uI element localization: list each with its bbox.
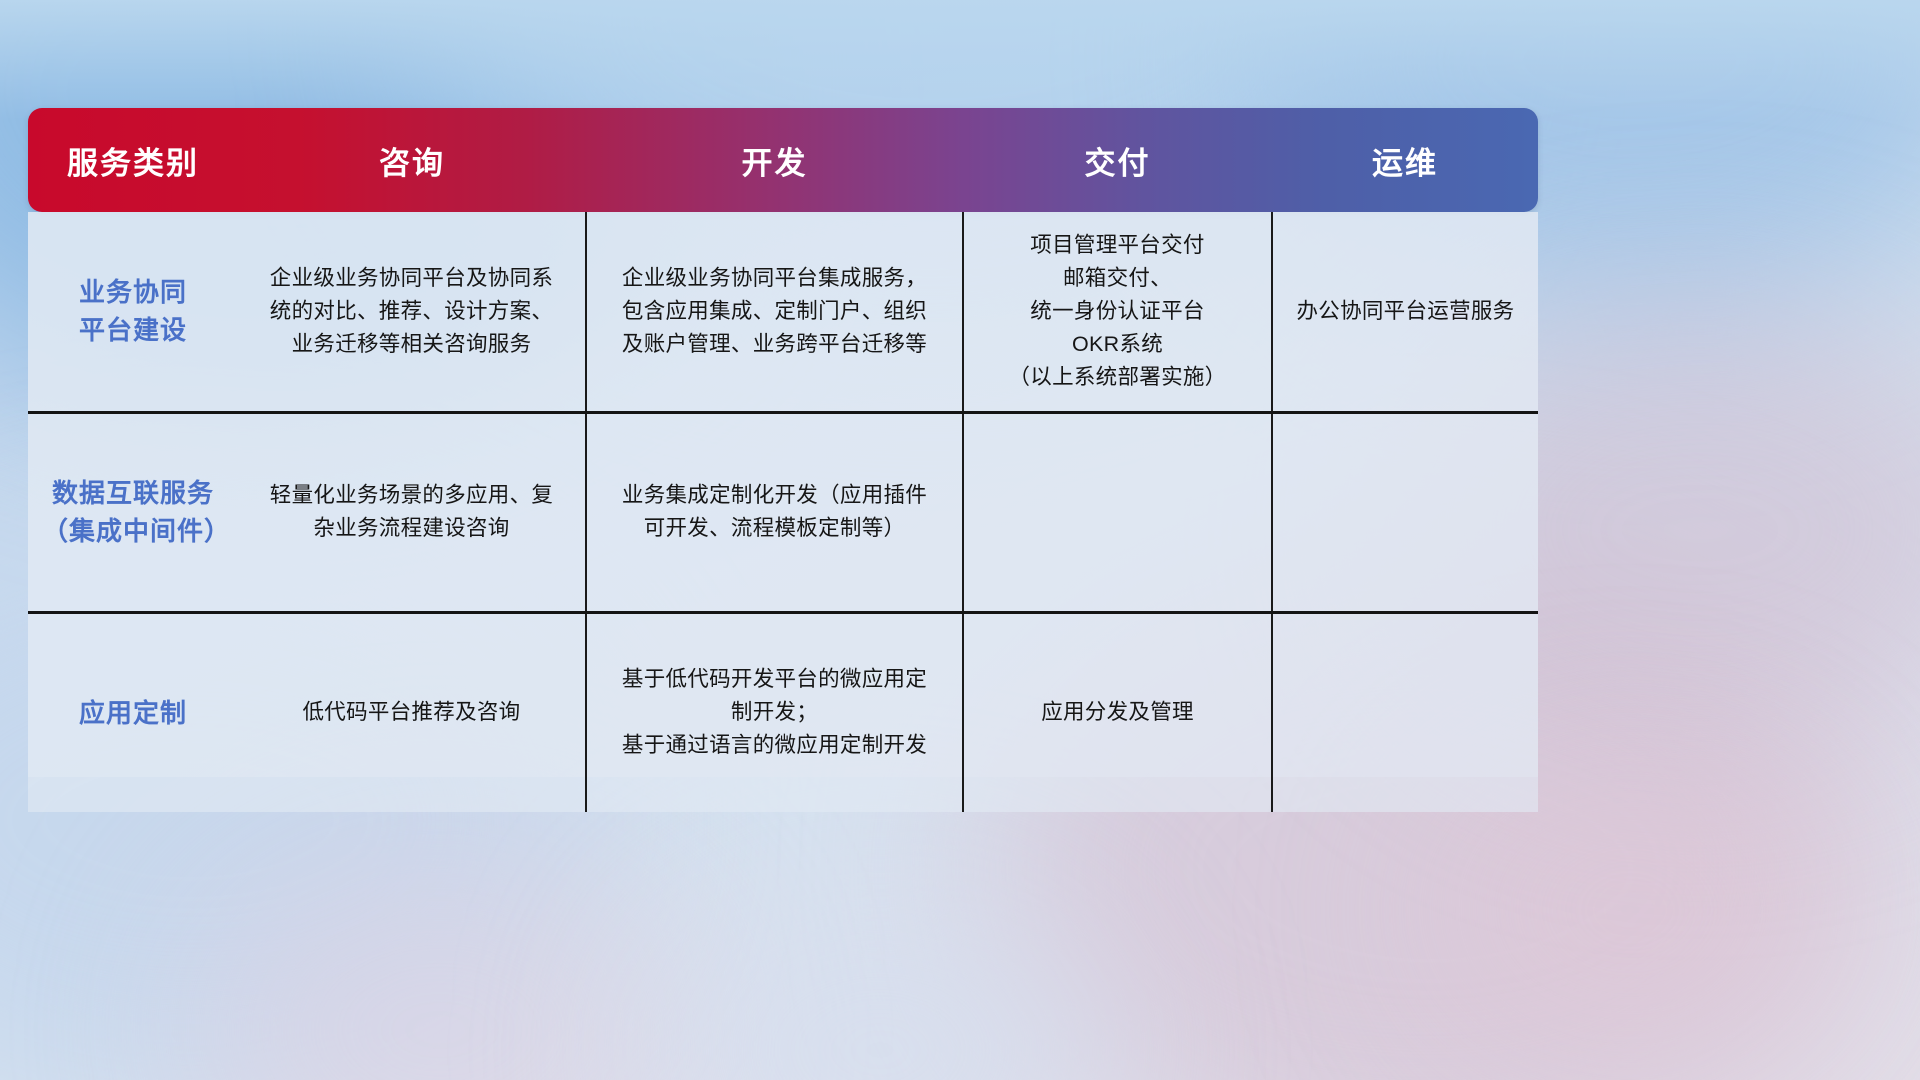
cell-delivery xyxy=(963,412,1272,612)
table-row: 数据互联服务 （集成中间件） 轻量化业务场景的多应用、复 杂业务流程建设咨询 业… xyxy=(28,412,1538,612)
service-matrix-table: 服务类别 咨询 开发 交付 运维 业务协同 平台建设 企业级业务协同平台及协同系… xyxy=(28,108,1538,812)
cell-consulting: 企业级业务协同平台及协同系 统的对比、推荐、设计方案、 业务迁移等相关咨询服务 xyxy=(238,212,586,412)
service-matrix-table-wrapper: 服务类别 咨询 开发 交付 运维 业务协同 平台建设 企业级业务协同平台及协同系… xyxy=(28,108,1538,812)
column-header-operations: 运维 xyxy=(1272,108,1538,212)
table-row: 业务协同 平台建设 企业级业务协同平台及协同系 统的对比、推荐、设计方案、 业务… xyxy=(28,212,1538,412)
cell-consulting: 低代码平台推荐及咨询 xyxy=(238,612,586,812)
cell-development: 企业级业务协同平台集成服务， 包含应用集成、定制门户、组织 及账户管理、业务跨平… xyxy=(586,212,963,412)
cell-consulting: 轻量化业务场景的多应用、复 杂业务流程建设咨询 xyxy=(238,412,586,612)
cell-delivery: 项目管理平台交付 邮箱交付、 统一身份认证平台 OKR系统 （以上系统部署实施） xyxy=(963,212,1272,412)
column-header-category: 服务类别 xyxy=(28,108,238,212)
cell-operations: 办公协同平台运营服务 xyxy=(1272,212,1538,412)
column-header-consulting: 咨询 xyxy=(238,108,586,212)
row-category-label: 业务协同 平台建设 xyxy=(28,212,238,412)
cell-development: 基于低代码开发平台的微应用定 制开发； 基于通过语言的微应用定制开发 xyxy=(586,612,963,812)
column-header-development: 开发 xyxy=(586,108,963,212)
row-category-label: 数据互联服务 （集成中间件） xyxy=(28,412,238,612)
table-row: 应用定制 低代码平台推荐及咨询 基于低代码开发平台的微应用定 制开发； 基于通过… xyxy=(28,612,1538,812)
cell-development: 业务集成定制化开发（应用插件 可开发、流程模板定制等） xyxy=(586,412,963,612)
column-header-delivery: 交付 xyxy=(963,108,1272,212)
row-category-label: 应用定制 xyxy=(28,612,238,812)
background-top-wash xyxy=(0,0,1920,120)
cell-delivery: 应用分发及管理 xyxy=(963,612,1272,812)
cell-operations xyxy=(1272,612,1538,812)
cell-operations xyxy=(1272,412,1538,612)
table-header-row: 服务类别 咨询 开发 交付 运维 xyxy=(28,108,1538,212)
